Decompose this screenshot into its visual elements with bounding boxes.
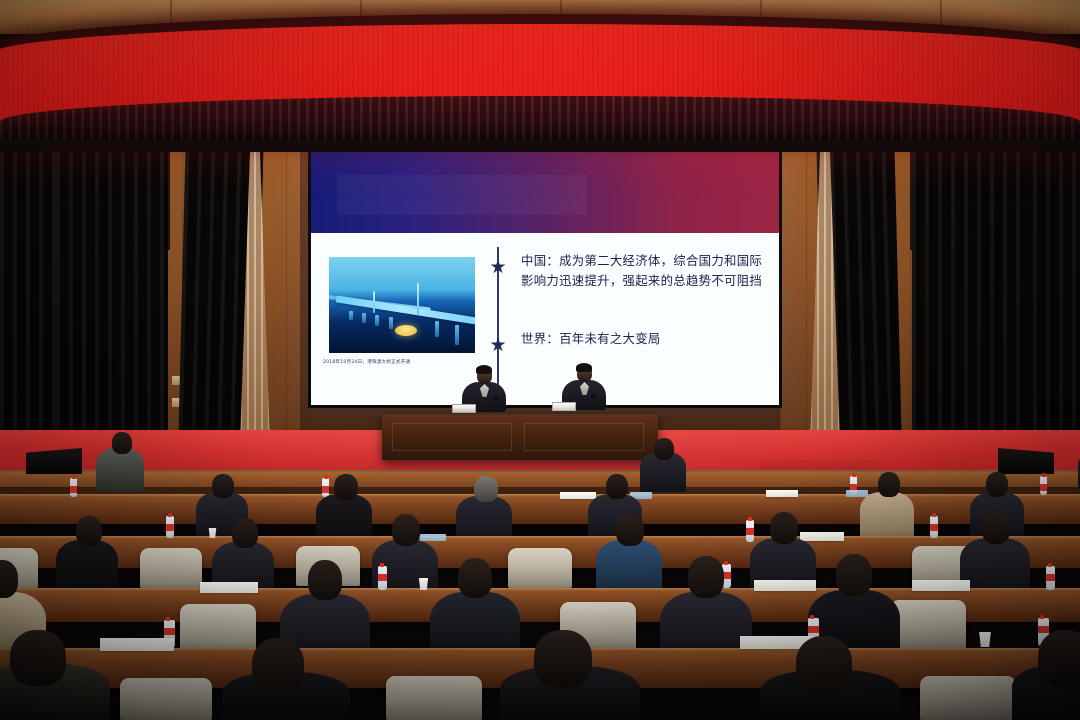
audience-desk-1 (0, 494, 1080, 524)
audience-chair (120, 678, 212, 720)
desk-tablet-screen (420, 534, 446, 541)
water-bottle (930, 516, 938, 538)
desk-tablet-screen (846, 490, 868, 497)
banner-valance (0, 96, 1080, 140)
star-bullet-icon: ★ (489, 259, 507, 277)
water-bottle (322, 478, 329, 497)
name-card-right (552, 402, 576, 411)
slide-image-bridge (329, 257, 475, 353)
paper-cup (978, 632, 992, 647)
name-card-left (452, 404, 476, 413)
desk-notebook (912, 580, 970, 591)
auditorium-scene: 2018年10月24日，港珠澳大桥正式开通 ★ ★ 中国：成为第二大经济体，综合… (0, 0, 1080, 720)
head-table (382, 414, 658, 460)
audience-chair (920, 676, 1016, 720)
desk-papers (560, 492, 596, 499)
slide-bullet-text-2: 世界：百年未有之大变局 (521, 329, 771, 349)
water-bottle (70, 478, 77, 497)
slide-header-band (311, 149, 779, 233)
water-bottle (746, 520, 754, 542)
desk-papers (766, 490, 798, 497)
desk-notebook (754, 580, 816, 591)
audience-chair (180, 604, 256, 654)
star-bullet-icon: ★ (489, 337, 507, 355)
water-bottle (1040, 476, 1047, 495)
projection-screen: 2018年10月24日，港珠澳大桥正式开通 ★ ★ 中国：成为第二大经济体，综合… (308, 146, 782, 408)
curtain-edge-left (0, 120, 60, 460)
desk-notebook (200, 582, 258, 593)
curtain-black-left-outer (56, 120, 168, 460)
audience-chair (508, 548, 572, 588)
slide-body: 2018年10月24日，港珠澳大桥正式开通 ★ ★ 中国：成为第二大经济体，综合… (311, 233, 779, 405)
water-bottle (166, 516, 174, 538)
audience-chair (890, 600, 966, 650)
slide-bullet-text-1: 中国：成为第二大经济体，综合国力和国际影响力迅速提升，强起来的总趋势不可阻挡 (521, 251, 771, 291)
desk-notebook (100, 638, 174, 651)
water-bottle (378, 566, 387, 590)
desk-papers (800, 532, 844, 541)
water-bottle (1046, 566, 1055, 590)
audience-chair (386, 676, 482, 720)
curtain-black-right-outer (912, 120, 1024, 460)
audience-chair (140, 548, 202, 588)
curtain-edge-right (1020, 120, 1080, 460)
slide-image-caption: 2018年10月24日，港珠澳大桥正式开通 (323, 359, 503, 365)
